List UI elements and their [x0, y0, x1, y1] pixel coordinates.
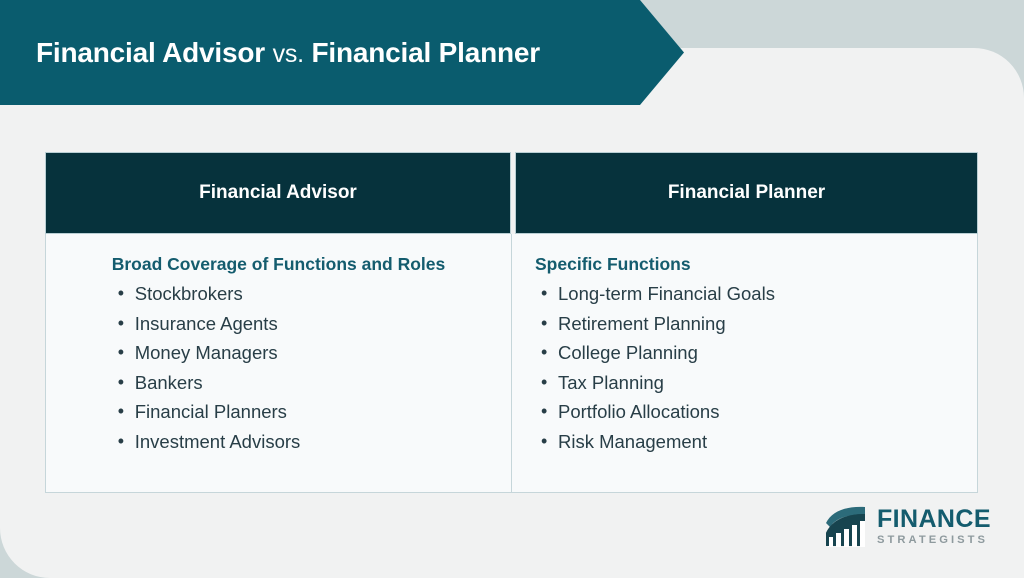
title-right-term: Financial Planner	[312, 37, 540, 68]
list-item: Stockbrokers	[135, 279, 446, 309]
subheading-financial-advisor: Broad Coverage of Functions and Roles	[112, 254, 446, 275]
logo-wordmark: FINANCE STRATEGISTS	[877, 507, 991, 546]
comparison-table: Financial Advisor Financial Planner Broa…	[45, 152, 978, 493]
column-header-financial-planner: Financial Planner	[515, 152, 978, 234]
column-header-label: Financial Planner	[668, 182, 825, 204]
title-left-term: Financial Advisor	[36, 37, 265, 68]
list-financial-advisor: Stockbrokers Insurance Agents Money Mana…	[112, 279, 446, 456]
brand-logo: FINANCE STRATEGISTS	[824, 506, 991, 548]
column-header-label: Financial Advisor	[199, 182, 357, 204]
list-item: Investment Advisors	[135, 427, 446, 457]
table-body-row: Broad Coverage of Functions and Roles St…	[45, 234, 978, 493]
infographic-canvas: Financial Advisor vs. Financial Planner …	[0, 0, 1024, 578]
logo-primary-text: FINANCE	[877, 507, 991, 532]
list-financial-planner: Long-term Financial Goals Retirement Pla…	[535, 279, 977, 456]
list-item: Insurance Agents	[135, 309, 446, 339]
list-item: Money Managers	[135, 338, 446, 368]
list-item: College Planning	[558, 338, 977, 368]
page-title: Financial Advisor vs. Financial Planner	[0, 37, 540, 69]
list-item: Tax Planning	[558, 368, 977, 398]
column-header-financial-advisor: Financial Advisor	[45, 152, 511, 234]
finance-strategists-logo-icon	[824, 506, 868, 548]
subheading-financial-planner: Specific Functions	[535, 254, 977, 275]
list-item: Bankers	[135, 368, 446, 398]
header-banner: Financial Advisor vs. Financial Planner	[0, 0, 684, 105]
logo-secondary-text: STRATEGISTS	[877, 535, 991, 546]
list-item: Financial Planners	[135, 397, 446, 427]
list-item: Risk Management	[558, 427, 977, 457]
title-vs-separator: vs.	[273, 40, 304, 68]
table-cell-financial-advisor: Broad Coverage of Functions and Roles St…	[46, 234, 512, 492]
table-cell-financial-planner: Specific Functions Long-term Financial G…	[512, 234, 977, 492]
table-header-row: Financial Advisor Financial Planner	[45, 152, 978, 234]
list-item: Portfolio Allocations	[558, 397, 977, 427]
list-item: Retirement Planning	[558, 309, 977, 339]
cell-content: Broad Coverage of Functions and Roles St…	[112, 254, 446, 456]
list-item: Long-term Financial Goals	[558, 279, 977, 309]
cell-content: Specific Functions Long-term Financial G…	[512, 254, 977, 456]
